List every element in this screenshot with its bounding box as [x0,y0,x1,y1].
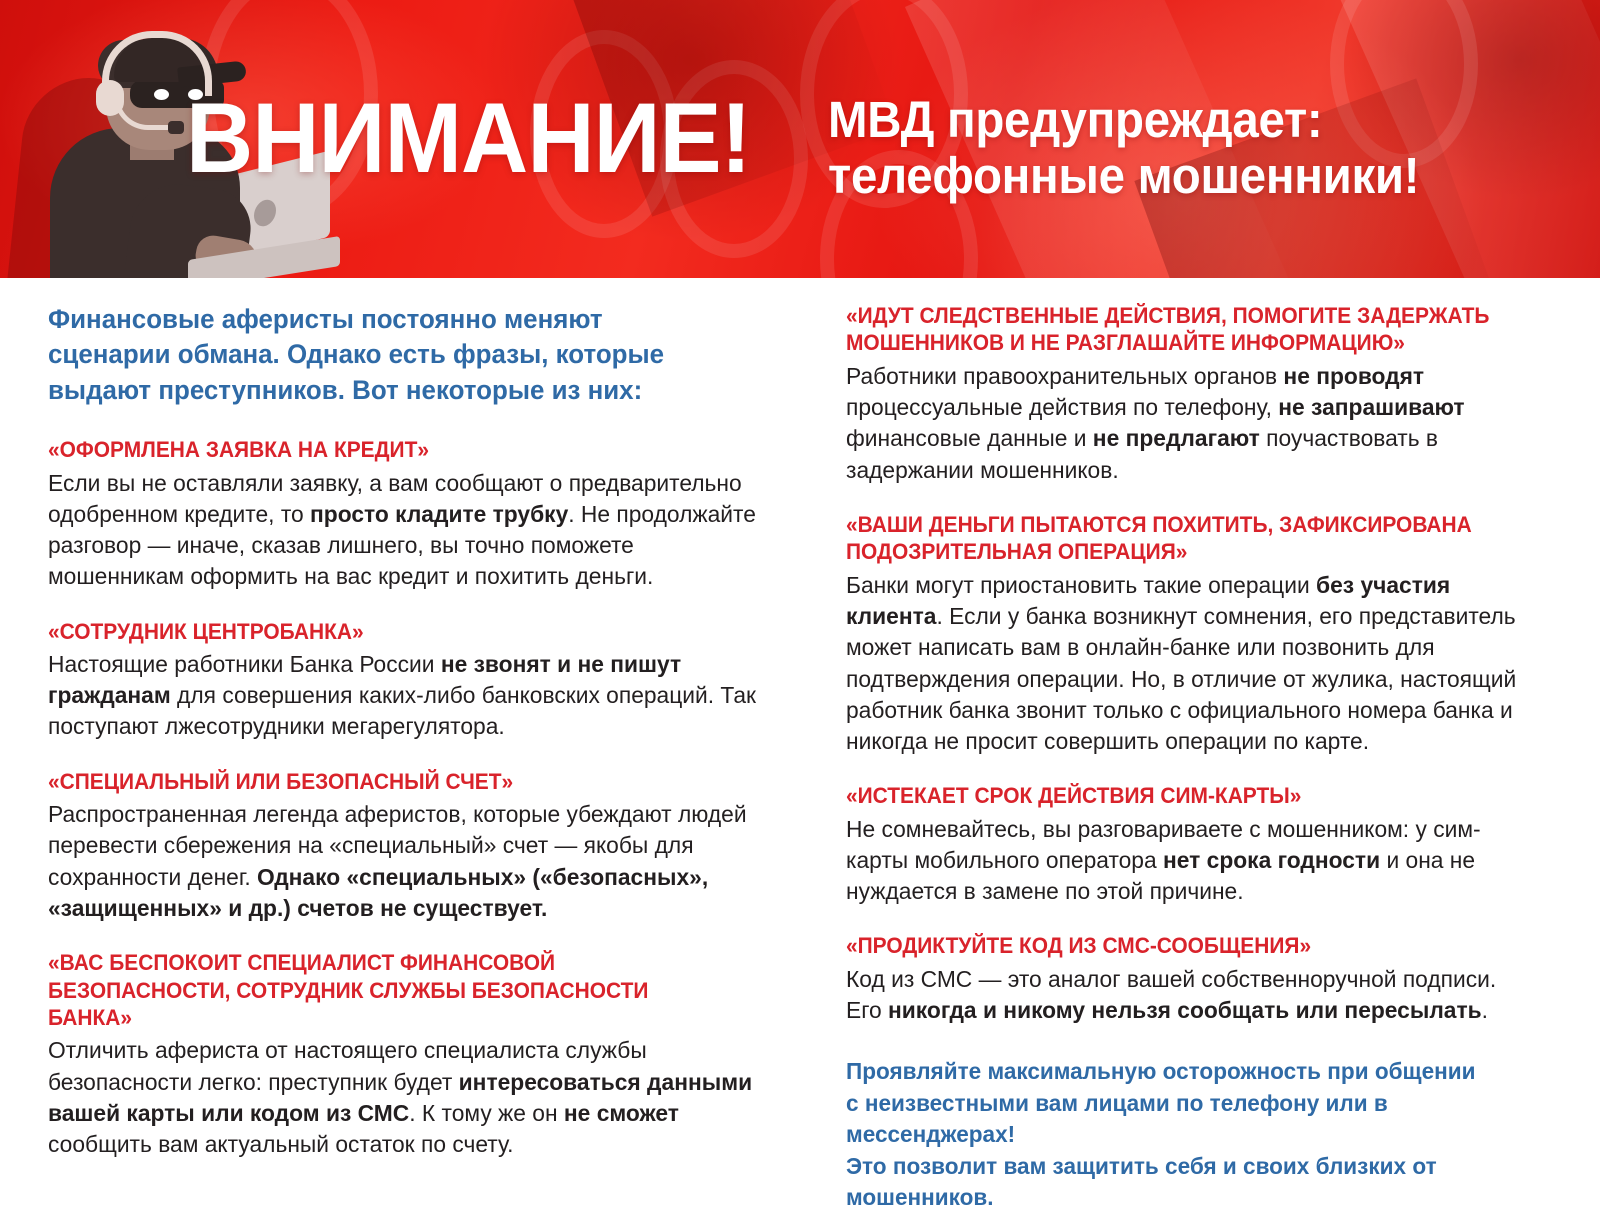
scam-phrase-block: «ИСТЕКАЕТ СРОК ДЕЙСТВИЯ СИМ-КАРТЫ» Не со… [846,782,1546,907]
scam-phrase-heading: «ИСТЕКАЕТ СРОК ДЕЙСТВИЯ СИМ-КАРТЫ» [846,782,1497,809]
scam-phrase-block: «ПРОДИКТУЙТЕ КОД ИЗ СМС-СООБЩЕНИЯ» Код и… [846,932,1546,1026]
left-column: Финансовые аферисты постоянно меняют сце… [48,302,778,1136]
scam-phrase-heading: «ОФОРМЛЕНА ЗАЯВКА НА КРЕДИТ» [48,436,727,463]
closing-advice: Проявляйте максимальную осторожность при… [846,1056,1518,1213]
header-banner: ВНИМАНИЕ! МВД предупреждает: телефонные … [0,0,1600,278]
headset-mic-tip [168,121,184,134]
scam-phrase-body: Не сомневайтесь, вы разговариваете с мош… [846,814,1525,908]
scam-phrase-body: Банки могут приостановить такие операции… [846,570,1525,758]
scam-phrase-heading: «ПРОДИКТУЙТЕ КОД ИЗ СМС-СООБЩЕНИЯ» [846,932,1497,959]
scam-phrase-block: «ОФОРМЛЕНА ЗАЯВКА НА КРЕДИТ» Если вы не … [48,436,778,592]
scam-phrase-body: Если вы не оставляли заявку, а вам сообщ… [48,468,756,593]
scam-phrase-block: «ВАС БЕСПОКОИТ СПЕЦИАЛИСТ ФИНАНСОВОЙ БЕЗ… [48,949,778,1160]
scam-phrase-body: Работники правоохранительных органов не … [846,361,1525,486]
scam-phrase-heading: «ВАШИ ДЕНЬГИ ПЫТАЮТСЯ ПОХИТИТЬ, ЗАФИКСИР… [846,511,1497,566]
scam-phrase-block: «СОТРУДНИК ЦЕНТРОБАНКА» Настоящие работн… [48,618,778,743]
banner-title-attention: ВНИМАНИЕ! [186,88,751,187]
scam-phrase-heading: «СОТРУДНИК ЦЕНТРОБАНКА» [48,618,727,645]
scam-phrase-block: «СПЕЦИАЛЬНЫЙ ИЛИ БЕЗОПАСНЫЙ СЧЕТ» Распро… [48,768,778,924]
banner-title-mvd-warning: МВД предупреждает: телефонные мошенники! [828,92,1419,203]
scam-phrase-block: «ВАШИ ДЕНЬГИ ПЫТАЮТСЯ ПОХИТИТЬ, ЗАФИКСИР… [846,511,1546,757]
scam-phrase-body: Код из СМС — это аналог вашей собственно… [846,964,1525,1027]
scam-phrase-heading: «ВАС БЕСПОКОИТ СПЕЦИАЛИСТ ФИНАНСОВОЙ БЕЗ… [48,949,727,1031]
scam-phrase-heading: «ИДУТ СЛЕДСТВЕННЫЕ ДЕЙСТВИЯ, ПОМОГИТЕ ЗА… [846,302,1497,357]
scam-phrase-heading: «СПЕЦИАЛЬНЫЙ ИЛИ БЕЗОПАСНЫЙ СЧЕТ» [48,768,727,795]
scam-phrase-body: Отличить афериста от настоящего специали… [48,1035,756,1160]
scam-phrase-body: Распространенная легенда аферистов, кото… [48,799,756,924]
poster-root: ВНИМАНИЕ! МВД предупреждает: телефонные … [0,0,1600,1136]
scam-phrase-block: «ИДУТ СЛЕДСТВЕННЫЕ ДЕЙСТВИЯ, ПОМОГИТЕ ЗА… [846,302,1546,486]
scam-phrase-body: Настоящие работники Банка России не звон… [48,649,756,743]
content-area: Финансовые аферисты постоянно меняют сце… [0,278,1600,1136]
right-column: «ИДУТ СЛЕДСТВЕННЫЕ ДЕЙСТВИЯ, ПОМОГИТЕ ЗА… [816,302,1546,1136]
intro-paragraph: Финансовые аферисты постоянно меняют сце… [48,302,749,408]
